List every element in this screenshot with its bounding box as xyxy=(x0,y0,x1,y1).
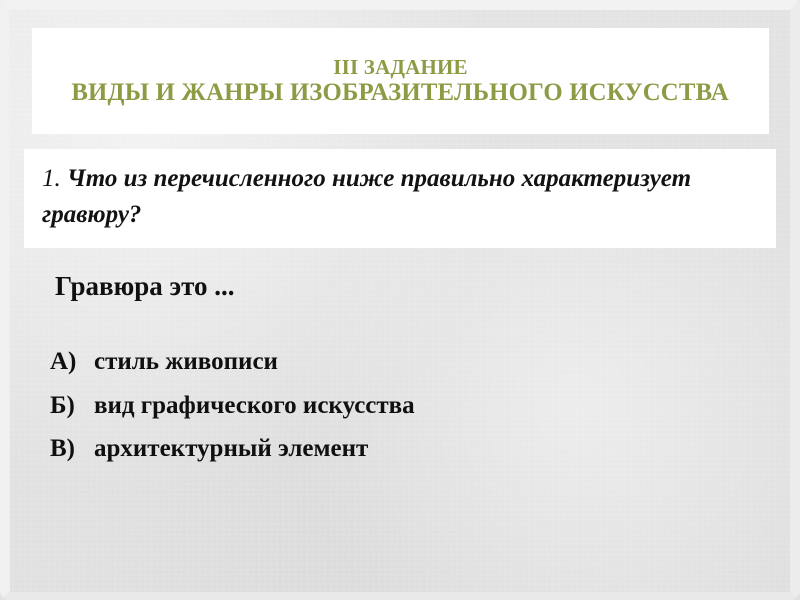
answer-option-b-label: вид графического искусства xyxy=(94,390,800,421)
slide-title-line-2: ВИДЫ И ЖАНРЫ ИЗОБРАЗИТЕЛЬНОГО ИСКУССТВА xyxy=(72,79,729,108)
answer-option-a[interactable]: А) стиль живописи xyxy=(0,346,800,377)
answer-area: Гравюра это ... А) стиль живописи Б) вид… xyxy=(0,270,800,476)
question-text: 1. Что из перечисленного ниже правильно … xyxy=(42,161,760,232)
question-card: 1. Что из перечисленного ниже правильно … xyxy=(24,149,776,248)
question-number: 1. xyxy=(42,165,61,192)
answer-option-a-key: А) xyxy=(50,346,94,377)
answer-option-c-key: В) xyxy=(50,433,94,464)
answer-option-a-label: стиль живописи xyxy=(94,346,800,377)
question-body: Что из перечисленного ниже правильно хар… xyxy=(42,165,691,228)
answer-option-b[interactable]: Б) вид графического искусства xyxy=(0,390,800,421)
slide-title-line-1: III ЗАДАНИЕ xyxy=(333,55,468,79)
answer-option-list: А) стиль живописи Б) вид графического ис… xyxy=(0,346,800,464)
answer-option-c-label: архитектурный элемент xyxy=(94,433,800,464)
answer-option-b-key: Б) xyxy=(50,390,94,421)
answer-stem: Гравюра это ... xyxy=(55,270,800,302)
answer-option-c[interactable]: В) архитектурный элемент xyxy=(0,433,800,464)
presentation-slide: III ЗАДАНИЕ ВИДЫ И ЖАНРЫ ИЗОБРАЗИТЕЛЬНОГ… xyxy=(0,0,800,600)
title-card: III ЗАДАНИЕ ВИДЫ И ЖАНРЫ ИЗОБРАЗИТЕЛЬНОГ… xyxy=(32,28,769,134)
